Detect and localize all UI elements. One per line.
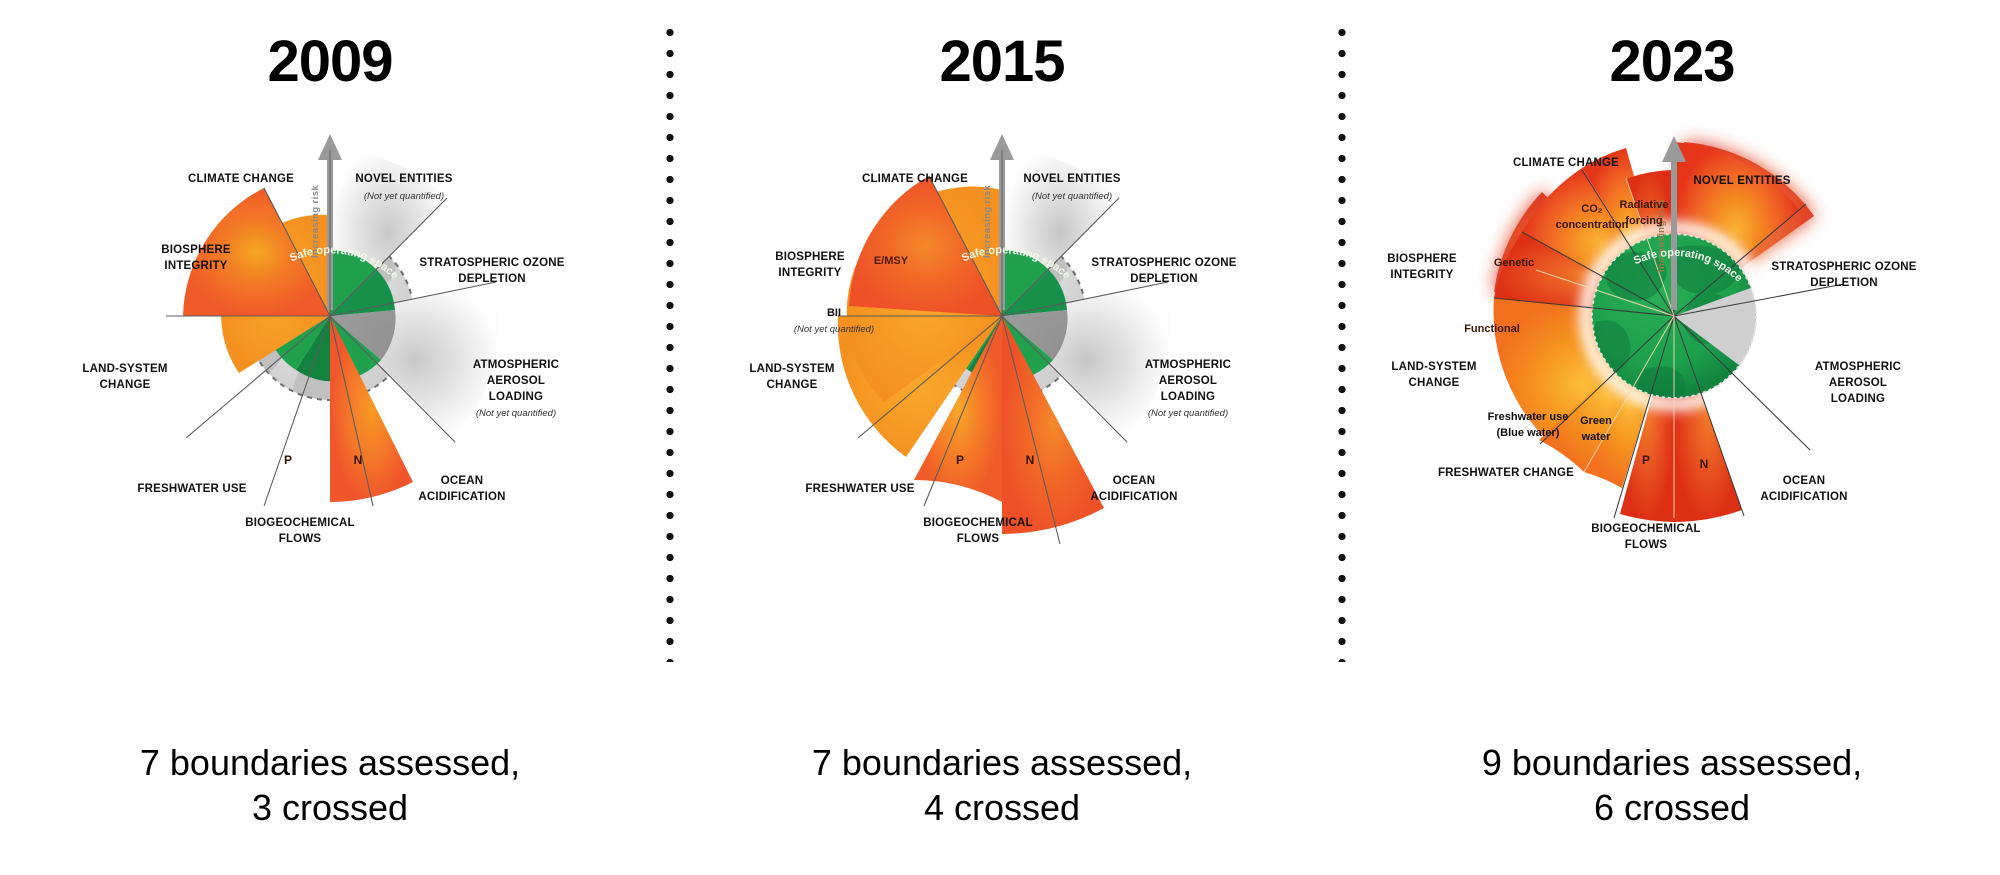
label-land-system-l1: LAND-SYSTEM <box>82 363 167 375</box>
caption-line-2: 6 crossed <box>1344 785 2000 830</box>
label-biogeochemical-l2: FLOWS <box>1625 539 1668 551</box>
caption-line-1: 9 boundaries assessed, <box>1344 740 2000 785</box>
panel-year-2015: 2015 <box>672 28 1332 95</box>
label-biosphere-l2: INTEGRITY <box>164 260 227 272</box>
label-biogeochemical-l1: BIOGEOCHEMICAL <box>923 517 1033 529</box>
label-green-water-l2: water <box>1581 431 1611 443</box>
label-stratospheric-ozone-l2: DEPLETION <box>1130 273 1198 285</box>
label-climate-change: CLIMATE CHANGE <box>188 173 294 185</box>
label-biogeochemical-p: P <box>284 453 292 467</box>
label-stratospheric-ozone-l1: STRATOSPHERIC OZONE <box>1771 261 1916 273</box>
label-ocean-l1: OCEAN <box>441 475 484 487</box>
label-novel-entities: NOVEL ENTITIES <box>355 173 452 185</box>
label-aerosol-l3: LOADING <box>1831 393 1885 405</box>
label-land-system-l1: LAND-SYSTEM <box>1391 361 1476 373</box>
label-novel-entities: NOVEL ENTITIES <box>1023 173 1120 185</box>
diagram-2023: Increasing risk Safe operating space CLI… <box>1344 120 2000 680</box>
label-ocean-l2: ACIDIFICATION <box>1760 491 1847 503</box>
label-novel-entities: NOVEL ENTITIES <box>1693 175 1790 187</box>
label-emsy: E/MSY <box>874 255 909 267</box>
panel-caption-2023: 9 boundaries assessed, 6 crossed <box>1344 740 2000 830</box>
label-bii: BII <box>827 307 841 319</box>
label-freshwater-change: FRESHWATER CHANGE <box>1438 467 1574 479</box>
label-land-system-l2: CHANGE <box>99 379 150 391</box>
caption-line-1: 7 boundaries assessed, <box>672 740 1332 785</box>
label-land-system-l2: CHANGE <box>1408 377 1459 389</box>
label-biogeochemical-p: P <box>956 453 964 467</box>
label-ocean-l1: OCEAN <box>1783 475 1826 487</box>
label-freshwater-blue-l1: Freshwater use <box>1488 411 1569 423</box>
diagram-2009: Increasing risk Safe operating space CLI… <box>0 120 660 680</box>
label-ocean-l1: OCEAN <box>1113 475 1156 487</box>
planetary-boundaries-figure: 2009 <box>0 0 2000 875</box>
label-genetic: Genetic <box>1494 257 1534 269</box>
label-biosphere-l1: BIOSPHERE <box>1387 253 1457 265</box>
label-novel-entities-note: (Not yet quantified) <box>1032 191 1112 202</box>
label-functional: Functional <box>1464 323 1520 335</box>
label-stratospheric-ozone-l1: STRATOSPHERIC OZONE <box>419 257 564 269</box>
label-green-water-l1: Green <box>1580 415 1612 427</box>
label-aerosol-note: (Not yet quantified) <box>1148 408 1228 419</box>
label-bii-note: (Not yet quantified) <box>794 324 874 335</box>
label-biogeochemical-n: N <box>354 453 363 467</box>
label-biogeochemical-l1: BIOGEOCHEMICAL <box>1591 523 1701 535</box>
label-biosphere-l1: BIOSPHERE <box>161 244 231 256</box>
label-biogeochemical-n: N <box>1700 457 1709 471</box>
label-biogeochemical-l1: BIOGEOCHEMICAL <box>245 517 355 529</box>
panel-caption-2015: 7 boundaries assessed, 4 crossed <box>672 740 1332 830</box>
label-biosphere-l1: BIOSPHERE <box>775 251 845 263</box>
label-freshwater-use: FRESHWATER USE <box>805 483 914 495</box>
label-land-system-l2: CHANGE <box>766 379 817 391</box>
label-co2-l2: concentration <box>1556 219 1629 231</box>
caption-line-2: 3 crossed <box>0 785 660 830</box>
caption-line-1: 7 boundaries assessed, <box>0 740 660 785</box>
label-novel-entities-note: (Not yet quantified) <box>364 191 444 202</box>
label-land-system-l1: LAND-SYSTEM <box>749 363 834 375</box>
label-ocean-l2: ACIDIFICATION <box>418 491 505 503</box>
panel-year-2009: 2009 <box>0 28 660 95</box>
label-ocean-l2: ACIDIFICATION <box>1090 491 1177 503</box>
label-biogeochemical-l2: FLOWS <box>279 533 322 545</box>
label-freshwater-use: FRESHWATER USE <box>137 483 246 495</box>
label-radiative-l1: Radiative <box>1620 199 1669 211</box>
label-biogeochemical-p: P <box>1642 453 1650 467</box>
panel-year-2023: 2023 <box>1344 28 2000 95</box>
label-biosphere-l2: INTEGRITY <box>778 267 841 279</box>
label-biogeochemical-l2: FLOWS <box>957 533 1000 545</box>
label-biosphere-l2: INTEGRITY <box>1390 269 1453 281</box>
panel-2009: 2009 <box>0 0 660 875</box>
label-freshwater-blue-l2: (Blue water) <box>1497 427 1560 439</box>
label-radiative-l2: forcing <box>1625 215 1662 227</box>
label-aerosol-l2: AEROSOL <box>1829 377 1887 389</box>
label-aerosol-note: (Not yet quantified) <box>476 408 556 419</box>
label-stratospheric-ozone-l2: DEPLETION <box>458 273 526 285</box>
label-aerosol-l1: ATMOSPHERIC <box>473 359 559 371</box>
panel-2015: 2015 <box>672 0 1332 875</box>
label-aerosol-l1: ATMOSPHERIC <box>1145 359 1231 371</box>
caption-line-2: 4 crossed <box>672 785 1332 830</box>
label-aerosol-l3: LOADING <box>1161 391 1215 403</box>
diagram-2015: Increasing risk Safe operating space CLI… <box>672 120 1332 680</box>
label-stratospheric-ozone-l1: STRATOSPHERIC OZONE <box>1091 257 1236 269</box>
label-aerosol-l2: AEROSOL <box>487 375 545 387</box>
label-aerosol-l1: ATMOSPHERIC <box>1815 361 1901 373</box>
panel-2023: 2023 <box>1344 0 2000 875</box>
label-stratospheric-ozone-l2: DEPLETION <box>1810 277 1878 289</box>
label-climate-change: CLIMATE CHANGE <box>1513 157 1619 169</box>
label-climate-change: CLIMATE CHANGE <box>862 173 968 185</box>
label-aerosol-l3: LOADING <box>489 391 543 403</box>
label-biogeochemical-n: N <box>1026 453 1035 467</box>
label-co2-l1: CO₂ <box>1581 203 1603 215</box>
label-aerosol-l2: AEROSOL <box>1159 375 1217 387</box>
panel-caption-2009: 7 boundaries assessed, 3 crossed <box>0 740 660 830</box>
